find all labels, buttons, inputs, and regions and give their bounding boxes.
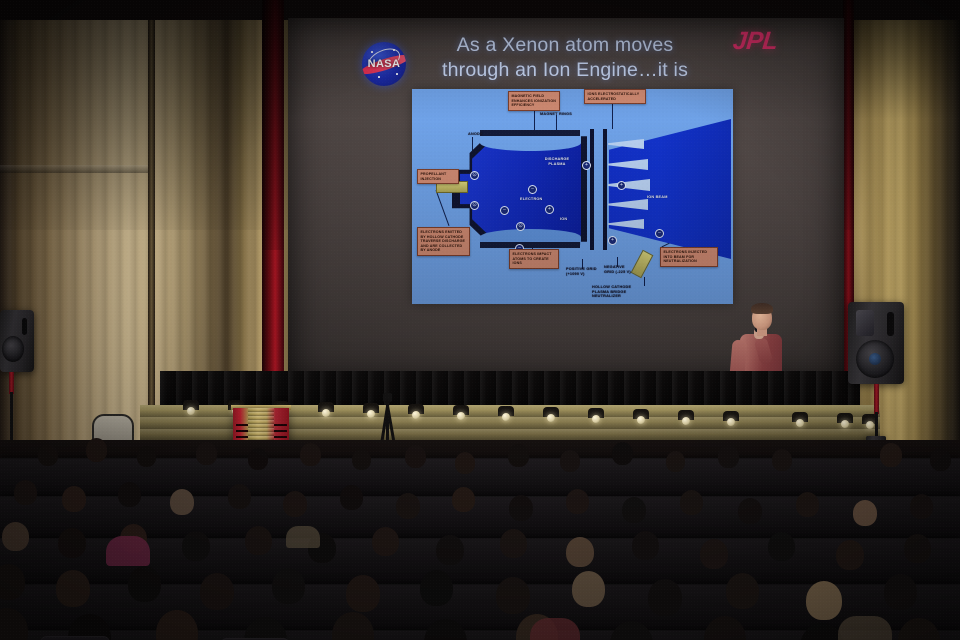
negative-grid-bar <box>603 129 607 250</box>
podium-slot <box>274 430 287 432</box>
audience-head <box>200 573 234 610</box>
presenter-hair <box>751 303 773 314</box>
audience-clothing-magenta <box>106 536 150 566</box>
footlight <box>727 418 735 426</box>
audience-head <box>396 493 420 519</box>
footlight <box>412 411 420 419</box>
audience-head-blonde <box>806 581 842 620</box>
speaker-dome <box>869 353 881 365</box>
slide-title: As a Xenon atom moves through an Ion Eng… <box>430 33 700 83</box>
audience-clothing-beige <box>838 616 892 640</box>
footlight <box>592 415 600 423</box>
audience-head <box>405 445 426 468</box>
audience-head <box>680 490 703 515</box>
audience-clothing-red <box>530 618 580 640</box>
footlight <box>457 412 465 420</box>
audience-head <box>38 444 58 466</box>
speaker-pole <box>10 392 13 440</box>
audience-head <box>58 528 86 558</box>
audience-head <box>768 532 795 561</box>
audience-head-grey <box>572 571 605 607</box>
audience-head <box>346 575 380 612</box>
auditorium-scene: NASA JPL As a Xenon atom moves through a… <box>0 0 960 640</box>
nasa-star <box>396 73 398 75</box>
leader-line <box>556 115 557 131</box>
callout-magnetic-field: MAGNETIC FIELD ENHANCES IONIZATION EFFIC… <box>508 91 560 111</box>
audience-head <box>340 485 363 510</box>
podium-slot <box>236 424 248 426</box>
magnet-ring-bottom <box>480 242 580 248</box>
audience-head <box>884 574 917 610</box>
audience-head <box>455 452 475 474</box>
audience-head <box>118 482 141 507</box>
callout-electrons-emitted: ELECTRONS EMITTED BY HOLLOW CATHODE TRAV… <box>417 227 470 256</box>
cathode-particle: ⊙ <box>470 201 479 210</box>
audience-head <box>910 494 933 519</box>
audience-head <box>86 438 107 462</box>
slide-title-line1: As a Xenon atom moves <box>430 33 700 58</box>
footlight <box>322 409 330 417</box>
audience-head <box>666 451 685 472</box>
label-positive-grid: POSITIVE GRID (+1090 V) <box>566 267 600 276</box>
footlight <box>367 410 375 418</box>
audience-head-grey <box>566 537 594 567</box>
audience-head <box>300 443 321 466</box>
speaker-handle <box>887 312 894 336</box>
footlight <box>866 421 874 429</box>
audience-head <box>352 449 371 470</box>
callout-ions-accelerated: IONS ELECTROSTATICALLY ACCELERATED <box>584 89 646 104</box>
audience-area <box>0 440 960 640</box>
ion-particle: + <box>545 205 554 214</box>
audience-head <box>718 445 739 468</box>
audience-head <box>182 531 210 561</box>
audience-head <box>283 491 307 517</box>
electron-particle: − <box>528 185 537 194</box>
leader-line <box>612 101 613 129</box>
audience-head <box>509 495 533 521</box>
audience-head <box>372 527 399 556</box>
footlight <box>547 414 555 422</box>
audience-head <box>128 566 161 602</box>
podium-slot <box>274 436 287 438</box>
audience-head <box>772 449 792 471</box>
nasa-wordmark: NASA <box>362 58 406 70</box>
plasma-curve-top <box>480 135 581 151</box>
audience-head <box>452 487 475 512</box>
podium-slot <box>236 430 248 432</box>
audience-head <box>436 535 464 565</box>
audience-head <box>796 492 819 517</box>
footlight <box>637 416 645 424</box>
magnet-ring-top <box>480 130 580 136</box>
audience-head-grey <box>2 522 29 551</box>
label-magnet-rings: MAGNET RINGS <box>540 112 572 117</box>
electron-particle: − <box>655 229 664 238</box>
jpl-logo: JPL <box>731 27 778 56</box>
cathode-particle: ⊙ <box>470 171 479 180</box>
slide-title-line2: through an Ion Engine…it is <box>430 58 700 83</box>
callout-electrons-impact: ELECTRONS IMPACT ATOMS TO CREATE IONS <box>509 249 559 269</box>
audience-head <box>930 448 951 471</box>
curtain-left-shadow <box>262 0 284 250</box>
audience-head <box>566 489 589 514</box>
left-wall-shadow <box>0 0 300 230</box>
audience-head <box>500 529 527 558</box>
audience-head <box>228 484 251 509</box>
audience-head <box>726 573 759 609</box>
audience-head <box>904 534 931 563</box>
podium-slot <box>274 424 287 426</box>
audience-head <box>700 539 728 569</box>
speaker-pole-red <box>874 384 879 414</box>
audience-head-light <box>853 500 877 526</box>
footlight <box>841 420 849 428</box>
label-negative-grid: NEGATIVE GRID (-225 V) <box>604 265 636 274</box>
callout-electrons-injected: ELECTRONS INJECTED INTO BEAM FOR NEUTRAL… <box>660 247 718 267</box>
ion-particle: + <box>617 181 626 190</box>
audience-clothing-tan <box>286 526 320 548</box>
audience-head-grey <box>170 489 194 515</box>
audience-head <box>648 579 682 616</box>
ceiling <box>0 0 960 20</box>
audience-head <box>14 480 37 505</box>
speaker-pole-red <box>9 372 14 394</box>
audience-head <box>137 446 156 467</box>
footlight <box>796 419 804 427</box>
callout-propellant-injection: PROPELLANT INJECTION <box>417 169 459 184</box>
ion-engine-diagram: ⊙ ⊙ − − ⊙ − + + + + − ANODE MAGNET RINGS… <box>412 89 733 304</box>
ion-beam-cone <box>609 119 731 259</box>
curtain-right-shadow <box>843 0 854 230</box>
nasa-star <box>378 76 380 78</box>
nasa-logo: NASA <box>362 42 406 86</box>
audience-head <box>612 442 633 465</box>
label-discharge-plasma: DISCHARGE PLASMA <box>537 157 577 166</box>
audience-head <box>248 448 268 470</box>
audience-head <box>508 444 529 467</box>
footlight <box>682 417 690 425</box>
footlight <box>187 407 195 415</box>
podium-slot <box>236 436 248 438</box>
positive-grid-bar <box>590 129 594 250</box>
audience-head <box>622 497 646 523</box>
label-ion: ION <box>560 217 567 222</box>
speaker-horn <box>856 310 874 336</box>
ion-particle: + <box>582 161 591 170</box>
nasa-star <box>393 49 395 51</box>
audience-head <box>632 531 659 560</box>
electron-particle: − <box>500 206 509 215</box>
audience-head <box>836 540 864 570</box>
speaker-woofer <box>2 336 24 362</box>
footlight <box>502 413 510 421</box>
audience-head <box>245 526 272 555</box>
ion-particle: + <box>608 236 617 245</box>
audience-head <box>560 450 580 472</box>
speaker-handle <box>22 318 27 335</box>
leader-line <box>436 190 450 226</box>
collision-particle: ⊙ <box>516 222 525 231</box>
label-anode: ANODE <box>468 132 483 137</box>
audience-head <box>880 443 902 467</box>
audience-head <box>62 486 86 512</box>
audience-head <box>496 577 530 614</box>
label-electron: ELECTRON <box>520 197 542 202</box>
label-ion-beam: ION BEAM <box>647 195 668 200</box>
nasa-star <box>371 51 373 53</box>
audience-head <box>420 570 453 606</box>
label-hollow-cathode: HOLLOW CATHODE PLASMA BRIDGE NEUTRALIZER <box>592 285 642 299</box>
audience-head <box>196 442 217 465</box>
audience-head <box>738 498 762 524</box>
leader-line <box>644 277 645 286</box>
audience-head <box>272 568 305 604</box>
audience-head <box>56 570 90 607</box>
theater-seat <box>40 636 110 640</box>
